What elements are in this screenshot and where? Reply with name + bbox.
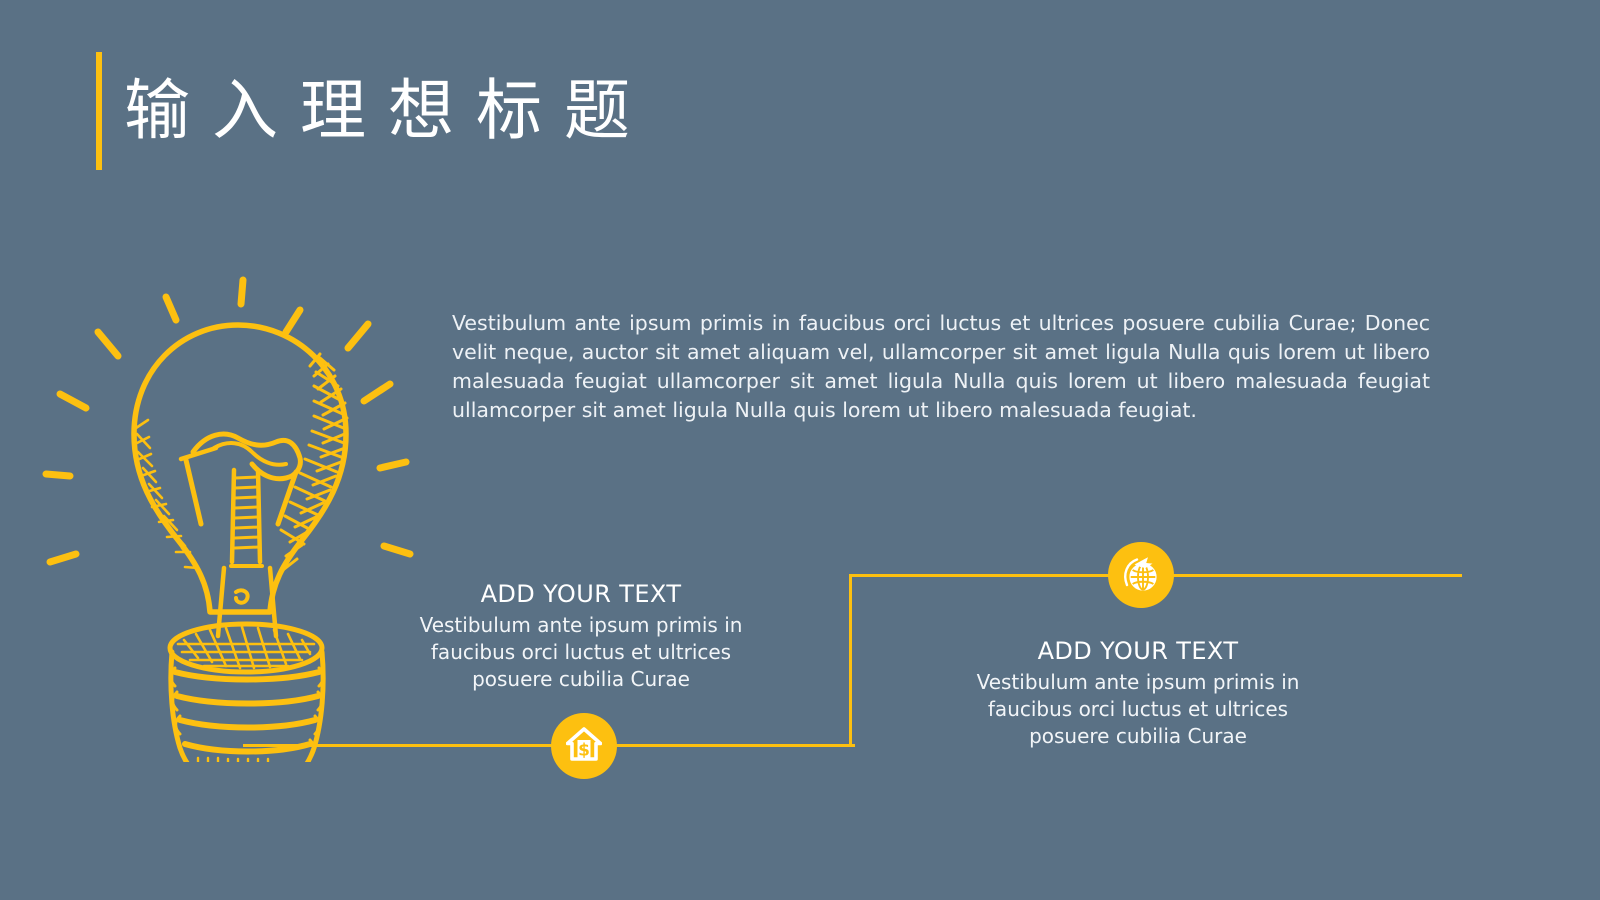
svg-text:$: $ <box>578 740 590 760</box>
text-block-heading: ADD YOUR TEXT <box>962 635 1314 667</box>
connector-line-bottom <box>243 744 855 747</box>
title-accent-bar <box>96 52 102 170</box>
page-title-group: 输入理想标题 <box>96 52 652 170</box>
connector-line-riser <box>849 574 852 747</box>
globe-airplane-icon <box>1121 554 1161 597</box>
text-block-body: Vestibulum ante ipsum primis in faucibus… <box>962 669 1314 750</box>
home-dollar-icon: $ <box>566 727 602 766</box>
page-title: 输入理想标题 <box>124 52 652 170</box>
text-block-body: Vestibulum ante ipsum primis in faucibus… <box>406 612 756 693</box>
intro-paragraph: Vestibulum ante ipsum primis in faucibus… <box>452 309 1430 425</box>
text-block-home: ADD YOUR TEXT Vestibulum ante ipsum prim… <box>406 578 756 693</box>
slide-canvas: 输入理想标题 <box>0 0 1600 900</box>
node-circle-globe[interactable] <box>1108 542 1174 608</box>
node-circle-home[interactable]: $ <box>551 713 617 779</box>
lightbulb-illustration <box>38 262 438 762</box>
text-block-globe: ADD YOUR TEXT Vestibulum ante ipsum prim… <box>962 635 1314 750</box>
text-block-heading: ADD YOUR TEXT <box>406 578 756 610</box>
